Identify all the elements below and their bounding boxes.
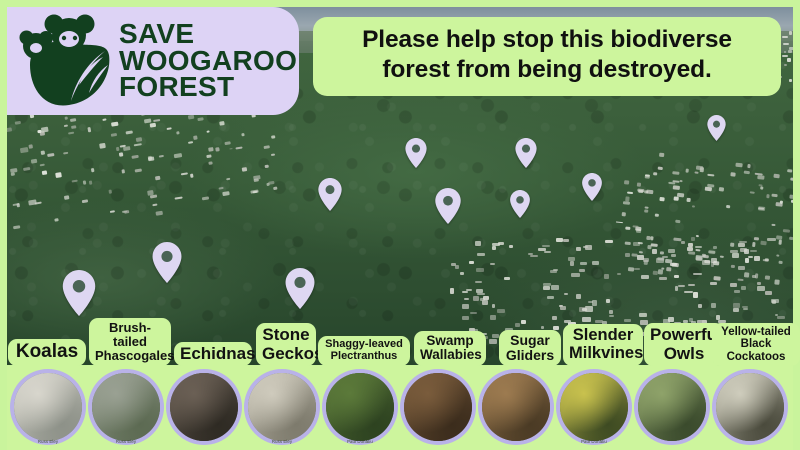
thumbnail-photo — [716, 373, 784, 441]
map-pin-7 — [510, 190, 530, 218]
map-pin-9 — [582, 173, 602, 201]
thumbnail-photo — [248, 373, 316, 441]
species-thumbnail-9 — [634, 369, 710, 445]
logo-wordmark: SAVE WOOGAROO FOREST — [119, 21, 297, 102]
species-thumbnail-2: Russ Eley — [88, 369, 164, 445]
logo-line-woogaroo: WOOGAROO — [119, 48, 297, 75]
species-thumbnail-7 — [478, 369, 554, 445]
photo-credit: Paul Donatiu — [322, 439, 398, 444]
species-thumbnail-1: Russ Eley — [10, 369, 86, 445]
species-label-4: Stone Geckos — [256, 323, 316, 366]
species-thumbnail-4: Russ Eley — [244, 369, 320, 445]
species-label-row: KoalasBrush-tailed PhascogalesEchidnasSt… — [7, 300, 793, 366]
thumbnail-photo — [482, 373, 550, 441]
species-thumbnail-5: Paul Donatiu — [322, 369, 398, 445]
species-label-1: Koalas — [8, 339, 86, 366]
logo-line-forest: FOREST — [119, 74, 297, 101]
photo-credit: Russ Eley — [10, 439, 86, 444]
map-pin-6 — [435, 188, 461, 224]
species-label-2: Brush-tailed Phascogales — [89, 318, 171, 366]
map-pin-5 — [405, 138, 427, 168]
species-thumbnail-strip: Russ EleyRuss EleyRuss EleyPaul DonatiuP… — [7, 366, 793, 450]
photo-credit: Russ Eley — [244, 439, 320, 444]
photo-credit: Paul Donatiu — [556, 439, 632, 444]
koala-leaf-icon — [13, 13, 117, 109]
species-label-3: Echidnas — [174, 342, 252, 366]
species-label-5: Shaggy-leaved Plectranthus — [318, 336, 410, 366]
species-thumbnail-10 — [712, 369, 788, 445]
thumbnail-photo — [560, 373, 628, 441]
species-thumbnail-3 — [166, 369, 242, 445]
map-pin-2 — [152, 242, 182, 283]
map-pin-8 — [515, 138, 537, 168]
species-label-7: Sugar Gliders — [499, 330, 561, 366]
logo-badge: SAVE WOOGAROO FOREST — [7, 7, 299, 115]
species-thumbnail-8: Paul Donatiu — [556, 369, 632, 445]
thumbnail-photo — [404, 373, 472, 441]
species-label-8: Slender Milkvines — [563, 324, 643, 366]
thumbnail-photo — [92, 373, 160, 441]
thumbnail-photo — [170, 373, 238, 441]
species-thumbnail-6 — [400, 369, 476, 445]
headline-banner: Please help stop this biodiverse forest … — [313, 17, 781, 96]
map-pin-4 — [318, 178, 342, 211]
map-pin-10 — [707, 115, 726, 141]
logo-line-save: SAVE — [119, 21, 297, 48]
poster: SAVE WOOGAROO FOREST Please help stop th… — [0, 0, 800, 450]
thumbnail-photo — [14, 373, 82, 441]
photo-credit: Russ Eley — [88, 439, 164, 444]
species-label-10: Yellow-tailed Black Cockatoos — [712, 323, 800, 366]
thumbnail-photo — [638, 373, 706, 441]
species-label-6: Swamp Wallabies — [414, 331, 486, 366]
thumbnail-photo — [326, 373, 394, 441]
